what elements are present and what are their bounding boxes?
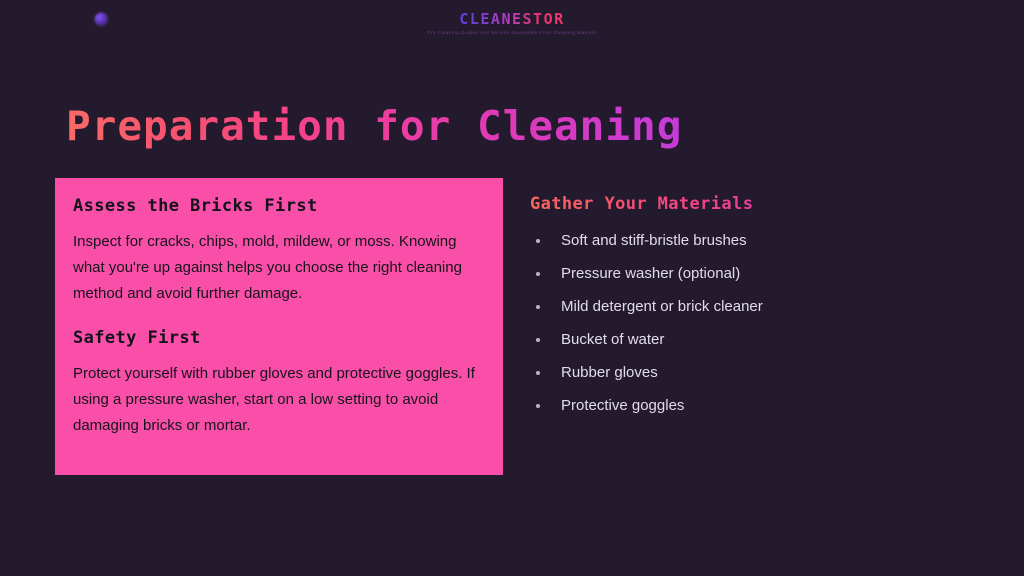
globe-orb-icon <box>95 13 107 25</box>
card-section-body-safety: Protect yourself with rubber gloves and … <box>73 361 483 439</box>
list-item: Protective goggles <box>530 397 950 415</box>
bullet-dot-icon <box>536 239 540 243</box>
list-item: Bucket of water <box>530 331 950 349</box>
list-item-label: Protective goggles <box>561 397 684 414</box>
bullet-dot-icon <box>536 404 540 408</box>
list-item: Mild detergent or brick cleaner <box>530 298 950 316</box>
bullet-dot-icon <box>536 338 540 342</box>
bullet-dot-icon <box>536 305 540 309</box>
list-item-label: Pressure washer (optional) <box>561 265 740 282</box>
bullet-dot-icon <box>536 272 540 276</box>
materials-list: Soft and stiff-bristle brushes Pressure … <box>530 232 950 415</box>
list-item-label: Soft and stiff-bristle brushes <box>561 232 747 249</box>
assess-and-safety-card: Assess the Bricks First Inspect for crac… <box>55 178 503 475</box>
page-title: Preparation for Cleaning <box>66 102 682 150</box>
materials-heading: Gather Your Materials <box>530 194 950 214</box>
list-item: Rubber gloves <box>530 364 950 382</box>
card-section-heading-assess: Assess the Bricks First <box>73 196 483 216</box>
card-section-heading-safety: Safety First <box>73 328 483 348</box>
list-item-label: Bucket of water <box>561 331 664 348</box>
list-item-label: Rubber gloves <box>561 364 658 381</box>
list-item-label: Mild detergent or brick cleaner <box>561 298 763 315</box>
materials-column: Gather Your Materials Soft and stiff-bri… <box>530 178 950 430</box>
list-item: Soft and stiff-bristle brushes <box>530 232 950 250</box>
bullet-dot-icon <box>536 371 540 375</box>
list-item: Pressure washer (optional) <box>530 265 950 283</box>
brand-logo: CLEANESTOR Pro Cleaning Guides And Servi… <box>0 12 1024 36</box>
logo-tagline: Pro Cleaning Guides And Service Journali… <box>0 31 1024 36</box>
card-section-body-assess: Inspect for cracks, chips, mold, mildew,… <box>73 229 483 307</box>
logo-wordmark: CLEANESTOR <box>459 12 564 27</box>
